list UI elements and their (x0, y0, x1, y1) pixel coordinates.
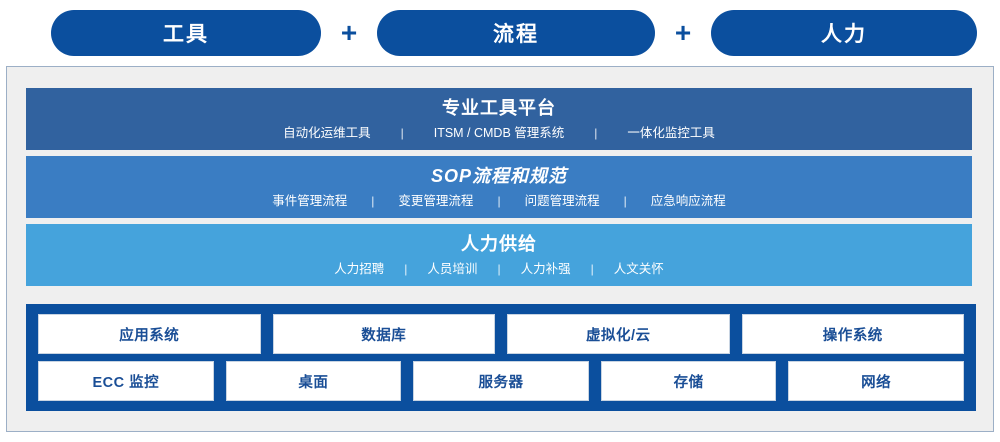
layer-item: 人力补强 (511, 262, 581, 277)
layer-item: 人文关怀 (604, 262, 674, 277)
header-pill-manpower[interactable]: 人力 (711, 10, 977, 56)
layer-item: ITSM / CMDB 管理系统 (420, 126, 579, 141)
object-tile[interactable]: 数据库 (273, 314, 496, 354)
layer-item: 自动化运维工具 (269, 126, 385, 141)
header-pill-process[interactable]: 流程 (377, 10, 655, 56)
item-separator: | (385, 126, 420, 140)
item-separator: | (487, 262, 510, 276)
layer-band-manpower-supply[interactable]: 人力供给 人力招聘 | 人员培训 | 人力补强 | 人文关怀 (26, 224, 972, 286)
layer-title-sop-process: SOP流程和规范 (26, 156, 972, 188)
item-separator: | (394, 262, 417, 276)
layer-item: 人员培训 (417, 262, 487, 277)
header-pill-row: 工具 + 流程 + 人力 (0, 9, 1000, 57)
layer-item: 一体化监控工具 (613, 126, 729, 141)
diagram-canvas: 工具 + 流程 + 人力 专业工具平台 自动化运维工具 | ITSM / CMD… (0, 0, 1000, 442)
plus-operator-icon-1: + (321, 19, 377, 47)
layer-item: 变更管理流程 (386, 194, 485, 209)
object-tile[interactable]: 虚拟化/云 (507, 314, 730, 354)
layer-band-tool-platform[interactable]: 专业工具平台 自动化运维工具 | ITSM / CMDB 管理系统 | 一体化监… (26, 88, 972, 150)
managed-objects-row: 应用系统 数据库 虚拟化/云 操作系统 (38, 314, 964, 354)
item-separator: | (485, 194, 512, 208)
item-separator: | (359, 194, 386, 208)
header-pill-tools[interactable]: 工具 (51, 10, 321, 56)
object-tile[interactable]: 网络 (788, 361, 964, 401)
managed-objects-row: ECC 监控 桌面 服务器 存储 网络 (38, 361, 964, 401)
layer-item: 人力招聘 (324, 262, 394, 277)
layer-item: 事件管理流程 (260, 194, 359, 209)
layer-item: 问题管理流程 (513, 194, 612, 209)
layer-item: 应急响应流程 (639, 194, 738, 209)
object-tile[interactable]: ECC 监控 (38, 361, 214, 401)
layer-items-manpower-supply: 人力招聘 | 人员培训 | 人力补强 | 人文关怀 (26, 256, 972, 277)
object-tile[interactable]: 存储 (601, 361, 777, 401)
layer-title-tool-platform: 专业工具平台 (26, 88, 972, 120)
layer-band-sop-process[interactable]: SOP流程和规范 事件管理流程 | 变更管理流程 | 问题管理流程 | 应急响应… (26, 156, 972, 218)
plus-operator-icon-2: + (655, 19, 711, 47)
layer-items-tool-platform: 自动化运维工具 | ITSM / CMDB 管理系统 | 一体化监控工具 (26, 120, 972, 141)
layers-frame: 专业工具平台 自动化运维工具 | ITSM / CMDB 管理系统 | 一体化监… (6, 66, 994, 432)
item-separator: | (581, 262, 604, 276)
object-tile[interactable]: 桌面 (226, 361, 402, 401)
item-separator: | (612, 194, 639, 208)
managed-objects-block: 应用系统 数据库 虚拟化/云 操作系统 ECC 监控 桌面 服务器 存储 网络 (26, 304, 976, 411)
object-tile[interactable]: 应用系统 (38, 314, 261, 354)
object-tile[interactable]: 服务器 (413, 361, 589, 401)
layer-title-manpower-supply: 人力供给 (26, 224, 972, 256)
item-separator: | (578, 126, 613, 140)
layer-items-sop-process: 事件管理流程 | 变更管理流程 | 问题管理流程 | 应急响应流程 (26, 188, 972, 209)
object-tile[interactable]: 操作系统 (742, 314, 965, 354)
